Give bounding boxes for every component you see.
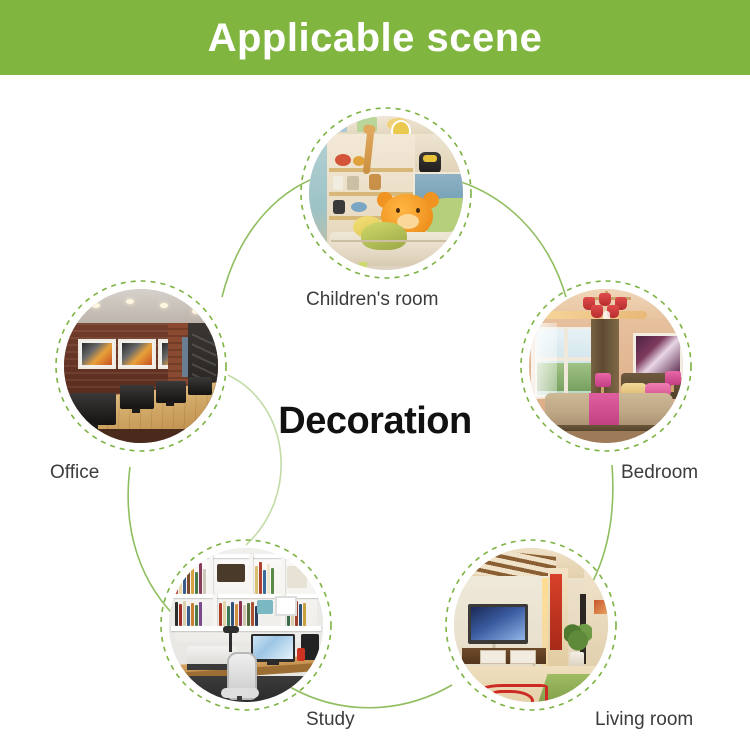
page-title: Applicable scene [208,18,543,58]
scene-photo-children-room [309,116,463,270]
scene-node-study[interactable]: Study [158,537,334,713]
scene-node-office[interactable]: Office [53,278,229,454]
scene-node-children-room[interactable]: Children's room [298,105,474,281]
scene-photo-office [64,289,218,443]
scene-label-office: Office [50,462,99,484]
scene-photo-living-room [454,548,608,702]
scene-label-children-room: Children's room [306,289,438,311]
scene-label-study: Study [306,709,355,731]
header-banner: Applicable scene [0,0,750,75]
scene-label-bedroom: Bedroom [621,462,698,484]
scene-photo-study [169,548,323,702]
scene-node-bedroom[interactable]: Bedroom [518,278,694,454]
scene-label-living-room: Living room [595,709,693,731]
scene-photo-bedroom [529,289,683,443]
scene-diagram: Decoration [0,75,750,750]
scene-node-living-room[interactable]: Living room [443,537,619,713]
